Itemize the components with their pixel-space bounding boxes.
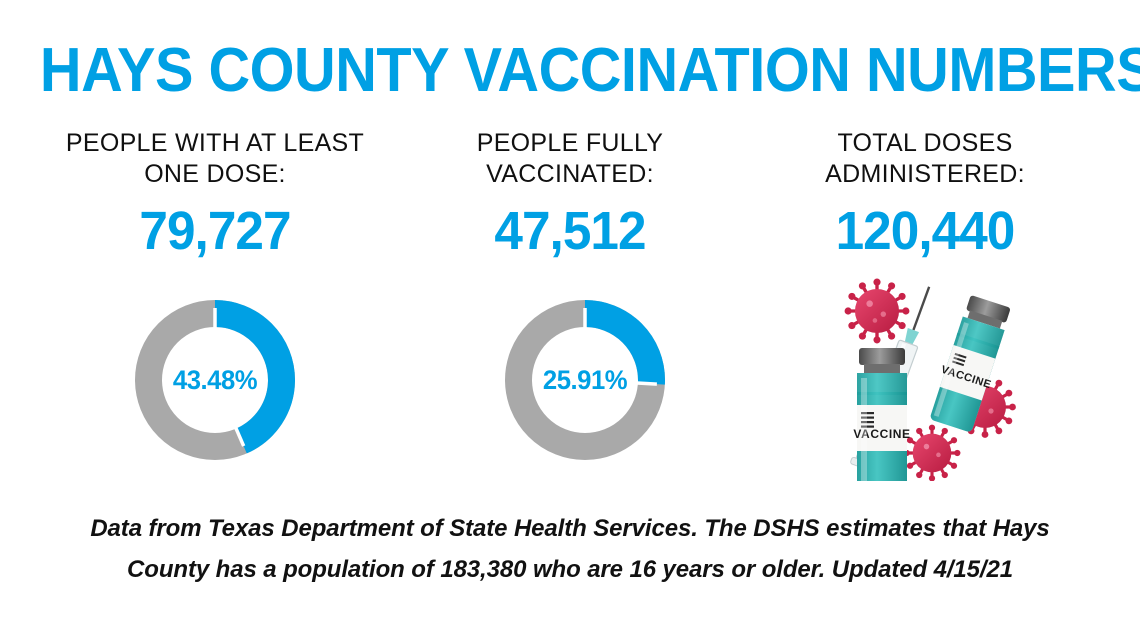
stat-column-total-doses: TOTAL DOSES ADMINISTERED: 120,440 — [740, 128, 1110, 260]
stat-label: PEOPLE WITH AT LEAST ONE DOSE: — [30, 128, 400, 190]
stat-column-fully-vaccinated: PEOPLE FULLY VACCINATED: 47,512 — [385, 128, 755, 260]
stat-label: PEOPLE FULLY VACCINATED: — [385, 128, 755, 190]
infographic-page: HAYS COUNTY VACCINATION NUMBERS PEOPLE W… — [0, 0, 1140, 631]
coronavirus-icon — [904, 425, 961, 481]
stat-label: TOTAL DOSES ADMINISTERED: — [740, 128, 1110, 190]
page-title: HAYS COUNTY VACCINATION NUMBERS — [40, 40, 1100, 102]
vaccine-illustration: VACCINE — [828, 276, 1082, 481]
donut-chart-fully-vaccinated: 25.91% — [505, 300, 665, 460]
stat-value: 120,440 — [749, 202, 1101, 260]
stat-value: 47,512 — [394, 202, 746, 260]
stat-value: 79,727 — [39, 202, 391, 260]
data-source-footnote: Data from Texas Department of State Heal… — [70, 508, 1070, 590]
coronavirus-icon — [845, 279, 910, 344]
donut-chart-at-least-one-dose: 43.48% — [135, 300, 295, 460]
donut-percent-label: 43.48% — [139, 300, 291, 460]
stat-column-at-least-one-dose: PEOPLE WITH AT LEAST ONE DOSE: 79,727 — [30, 128, 400, 260]
donut-percent-label: 25.91% — [509, 300, 661, 460]
